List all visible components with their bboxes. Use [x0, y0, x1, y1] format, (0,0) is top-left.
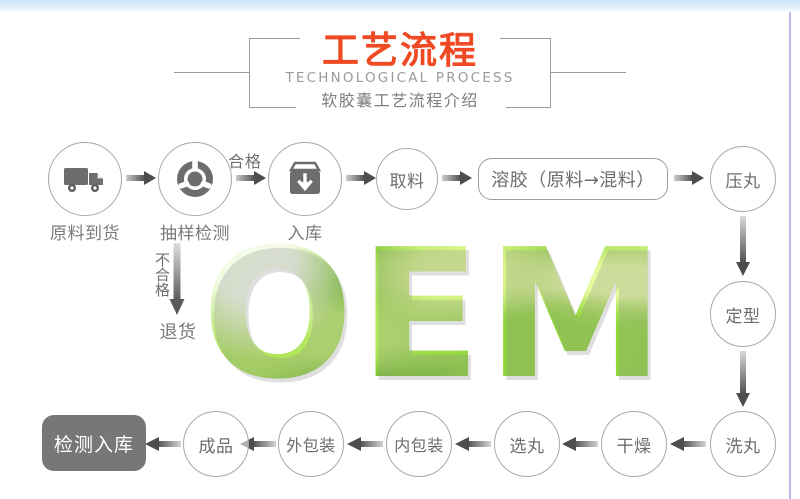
node-drying[interactable]: 干燥	[601, 411, 667, 477]
arrow-warehousing-to-picking	[346, 170, 376, 186]
node-return-goods[interactable]: 退货	[140, 318, 216, 344]
node-inspect-and-store[interactable]: 检测入库	[42, 415, 146, 471]
arrow-shaping-to-washing	[735, 351, 751, 409]
page-header: 工艺流程 TECHNOLOGICAL PROCESS 软胶囊工艺流程介绍	[0, 18, 800, 113]
inbox-down-arrow-icon	[285, 160, 325, 198]
arrow-sorting-to-inner-packaging	[453, 436, 491, 452]
caption-raw-material-arrival: 原料到货	[28, 219, 142, 244]
caption-sampling-inspection: 抽样检测	[138, 219, 252, 244]
arrow-gel-melting-to-pressing	[674, 170, 704, 186]
node-outer-packaging[interactable]: 外包装	[278, 411, 344, 477]
arrow-washing-to-drying	[668, 436, 706, 452]
edge-label-pass: 合格	[228, 148, 262, 172]
node-raw-material-arrival[interactable]	[48, 142, 122, 216]
node-gel-melting[interactable]: 溶胶（原料→混料）	[478, 158, 668, 200]
node-inner-packaging[interactable]: 内包装	[386, 411, 452, 477]
node-shaping[interactable]: 定型	[710, 281, 776, 347]
arrow-arrival-to-inspection	[126, 170, 156, 186]
node-material-picking[interactable]: 取料	[376, 148, 438, 210]
flowchart-poster: 工艺流程 TECHNOLOGICAL PROCESS 软胶囊工艺流程介绍 OEM…	[0, 0, 800, 499]
arrow-inner-to-outer-packaging	[345, 436, 383, 452]
node-finished-product[interactable]: 成品	[183, 411, 249, 477]
node-pill-sorting[interactable]: 选丸	[494, 411, 560, 477]
node-sampling-inspection[interactable]	[158, 142, 232, 216]
arrow-inspection-to-return	[168, 243, 186, 317]
page-title: 工艺流程	[0, 30, 800, 72]
arrow-drying-to-sorting	[560, 436, 598, 452]
node-pill-pressing[interactable]: 压丸	[710, 146, 776, 212]
oem-watermark: OEM	[196, 232, 676, 397]
top-decorative-band	[0, 0, 800, 12]
node-pill-washing[interactable]: 洗丸	[710, 411, 776, 477]
page-subtitle-cn: 软胶囊工艺流程介绍	[0, 91, 800, 111]
arrow-inspection-to-warehousing	[236, 170, 266, 186]
caption-warehousing: 入库	[253, 219, 357, 244]
node-warehousing[interactable]	[268, 142, 342, 216]
arrow-pressing-to-shaping	[735, 216, 751, 278]
sampling-inspection-icon	[174, 158, 216, 200]
page-subtitle-en: TECHNOLOGICAL PROCESS	[0, 70, 800, 86]
arrow-finished-to-inspect-store	[143, 436, 181, 452]
arrow-picking-to-gel-melting	[442, 170, 472, 186]
delivery-truck-icon	[63, 164, 107, 194]
